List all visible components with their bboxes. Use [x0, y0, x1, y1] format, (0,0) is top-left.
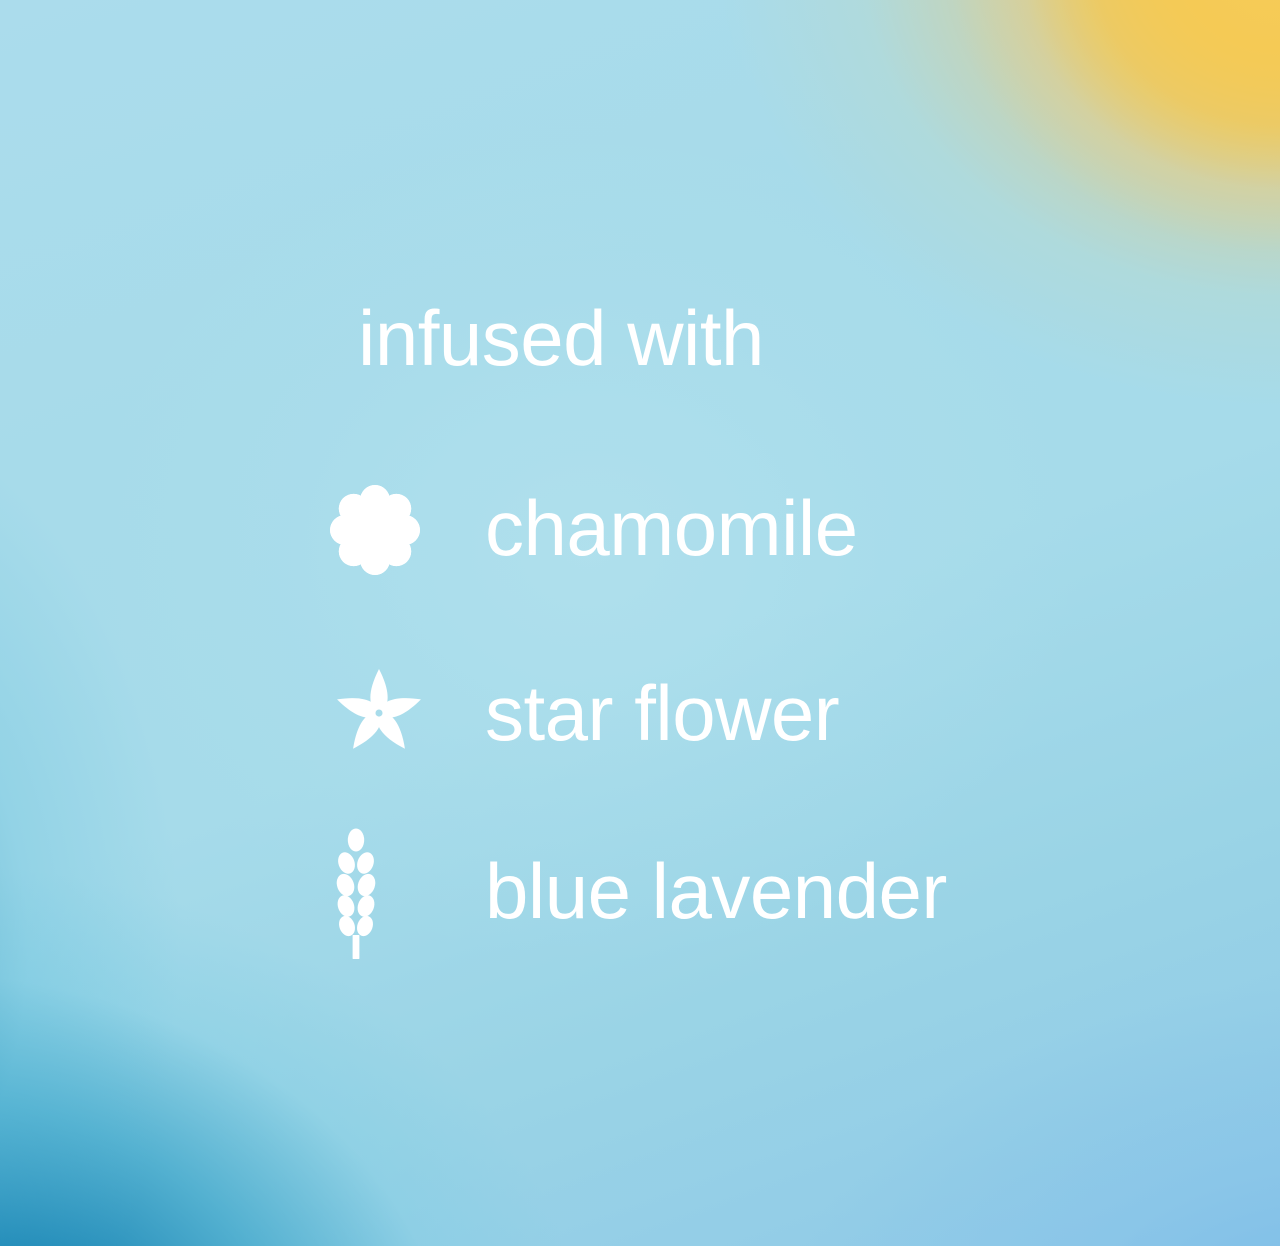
lavender-sprig-icon	[330, 827, 485, 959]
page-title: infused with	[358, 299, 764, 377]
ingredient-row-blue-lavender: blue lavender	[330, 825, 947, 960]
ingredient-label-chamomile: chamomile	[485, 489, 858, 567]
content-column: infused with	[0, 0, 1280, 1246]
ingredient-row-chamomile: chamomile	[330, 470, 858, 590]
star-flower-icon	[330, 666, 485, 764]
ingredient-row-star-flower: star flower	[330, 655, 839, 775]
chamomile-flower-icon	[330, 485, 485, 575]
ingredient-label-blue-lavender: blue lavender	[485, 852, 947, 930]
ingredient-label-star-flower: star flower	[485, 674, 839, 752]
infused-with-graphic: infused with	[0, 0, 1280, 1246]
